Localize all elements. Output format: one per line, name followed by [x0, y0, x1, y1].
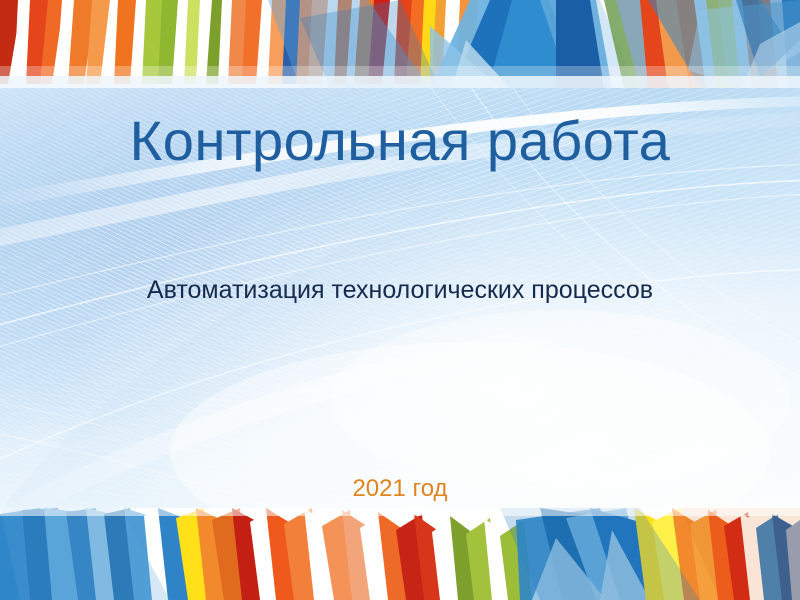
slide-year: 2021 год	[0, 475, 800, 504]
bottom-decorative-band	[0, 508, 800, 600]
slide-subtitle: Автоматизация технологических процессов	[0, 275, 800, 305]
top-decorative-band	[0, 0, 800, 88]
presentation-title-slide: Контрольная работа Автоматизация техноло…	[0, 0, 800, 600]
top-band-graphic	[0, 0, 800, 88]
bottom-band-graphic	[0, 508, 800, 600]
slide-title: Контрольная работа	[0, 112, 800, 171]
